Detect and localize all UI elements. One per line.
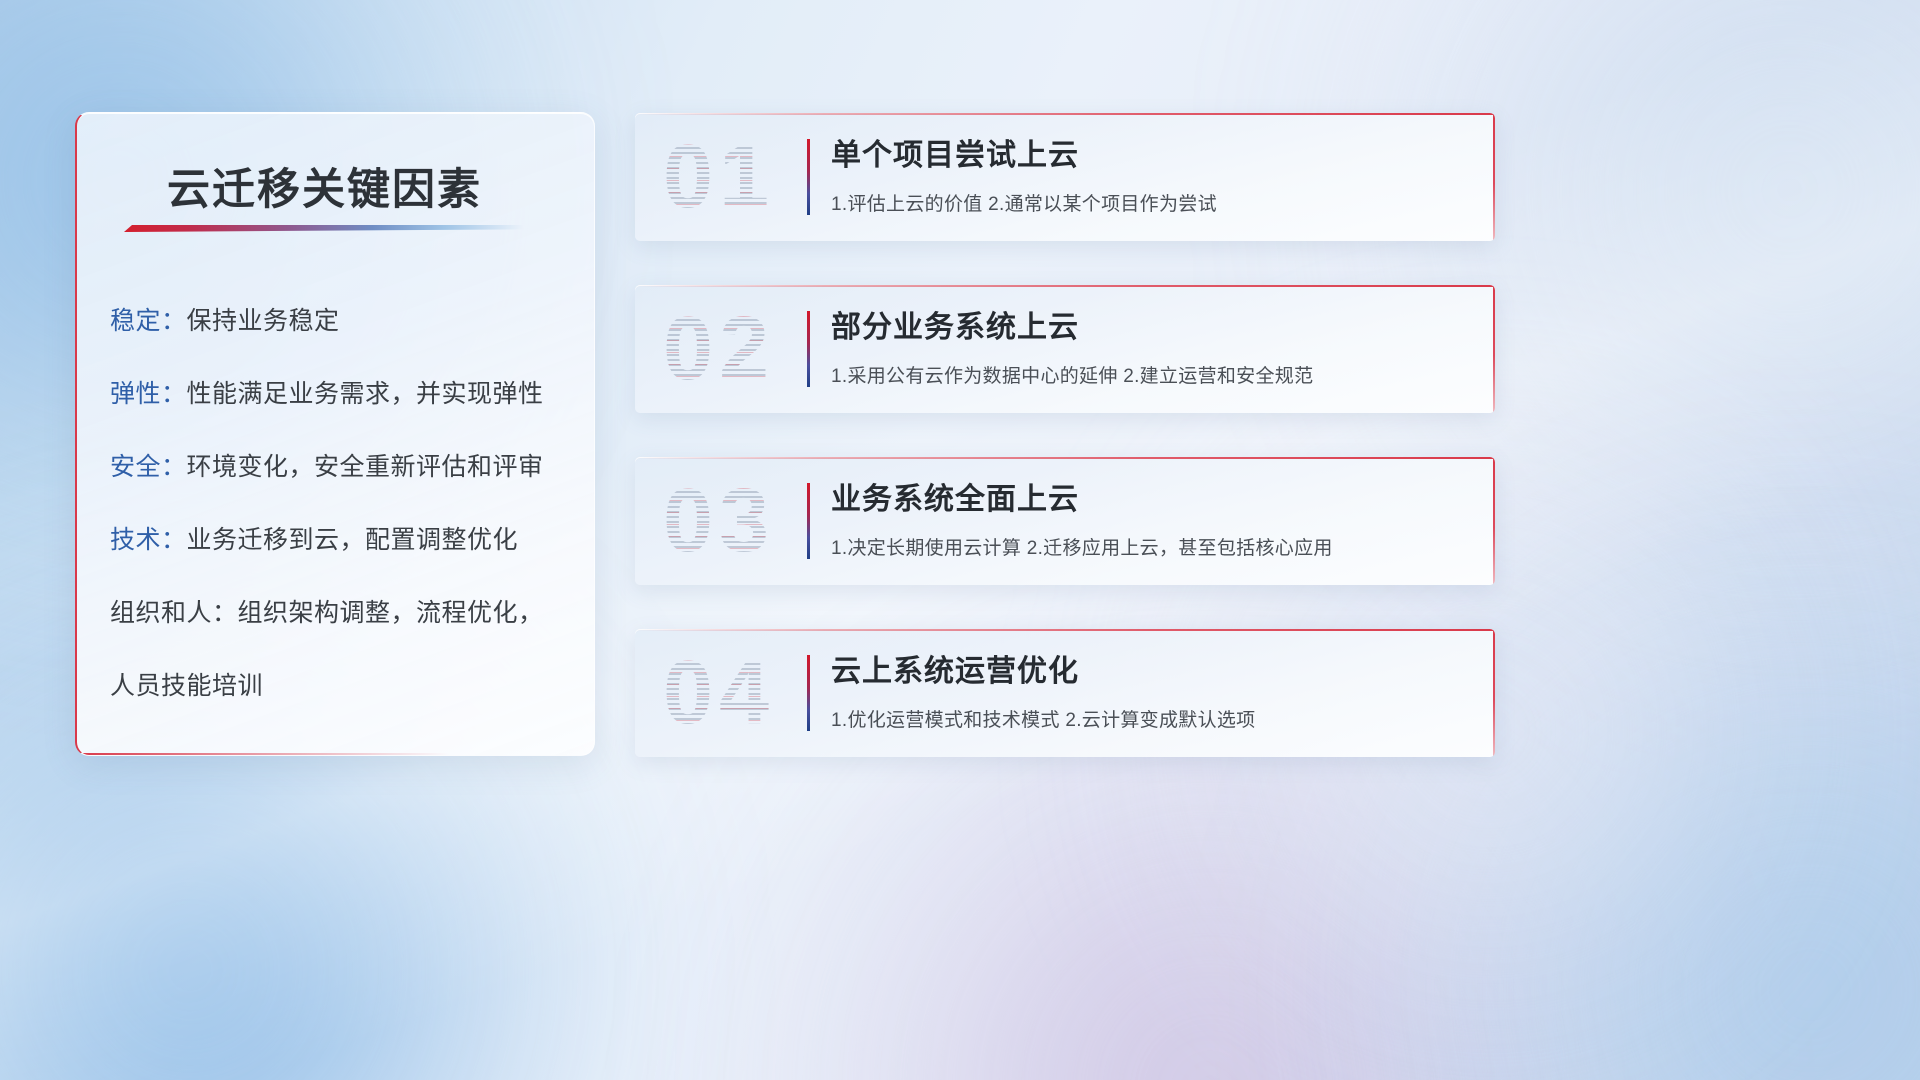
- step-description: 1.采用公有云作为数据中心的延伸 2.建立运营和安全规范: [831, 361, 1471, 388]
- list-item: 组织和人：组织架构调整，流程优化，: [110, 601, 570, 626]
- step-body: 单个项目尝试上云 1.评估上云的价值 2.通常以某个项目作为尝试: [831, 137, 1471, 216]
- step-title: 单个项目尝试上云: [831, 137, 1471, 175]
- factor-key: 弹性：: [110, 380, 187, 408]
- step-title: 部分业务系统上云: [831, 309, 1471, 347]
- step-card-01[interactable]: 01 01 单个项目尝试上云 1.评估上云的价值 2.通常以某个项目作为尝试: [635, 113, 1495, 241]
- step-accent-bar: [807, 655, 810, 731]
- step-body: 部分业务系统上云 1.采用公有云作为数据中心的延伸 2.建立运营和安全规范: [831, 309, 1471, 388]
- factor-text: 人员技能培训: [110, 672, 263, 700]
- factor-key: 技术：: [110, 526, 187, 554]
- list-item: 稳定：保持业务稳定: [110, 309, 570, 334]
- step-accent-bar: [807, 139, 810, 215]
- key-factors-panel: 云迁移关键因素 稳定：保持业务稳定 弹性：性能满足业务需求，并实现弹性 安全：环…: [75, 112, 595, 756]
- factor-text: 环境变化，安全重新评估和评审: [187, 453, 544, 481]
- factor-key: 稳定：: [110, 307, 187, 335]
- migration-steps-list: 01 01 单个项目尝试上云 1.评估上云的价值 2.通常以某个项目作为尝试 0…: [635, 113, 1495, 757]
- step-number-watermark-tint: 01: [663, 132, 775, 222]
- list-item: 技术：业务迁移到云，配置调整优化: [110, 528, 570, 553]
- step-description: 1.决定长期使用云计算 2.迁移应用上云，甚至包括核心应用: [831, 533, 1471, 560]
- step-body: 业务系统全面上云 1.决定长期使用云计算 2.迁移应用上云，甚至包括核心应用: [831, 481, 1471, 560]
- list-item: 人员技能培训: [110, 674, 570, 699]
- list-item: 安全：环境变化，安全重新评估和评审: [110, 455, 570, 480]
- step-card-04[interactable]: 04 04 云上系统运营优化 1.优化运营模式和技术模式 2.云计算变成默认选项: [635, 629, 1495, 757]
- slide-stage: 云迁移关键因素 稳定：保持业务稳定 弹性：性能满足业务需求，并实现弹性 安全：环…: [0, 0, 1920, 1080]
- step-description: 1.评估上云的价值 2.通常以某个项目作为尝试: [831, 189, 1471, 216]
- title-underline-accent: [124, 225, 524, 232]
- step-title: 云上系统运营优化: [831, 653, 1471, 691]
- factor-text: 组织和人：组织架构调整，流程优化，: [110, 599, 544, 627]
- page-title: 云迁移关键因素: [167, 155, 482, 217]
- step-title: 业务系统全面上云: [831, 481, 1471, 519]
- factor-text: 性能满足业务需求，并实现弹性: [187, 380, 544, 408]
- step-description: 1.优化运营模式和技术模式 2.云计算变成默认选项: [831, 705, 1471, 732]
- step-accent-bar: [807, 311, 810, 387]
- step-card-03[interactable]: 03 03 业务系统全面上云 1.决定长期使用云计算 2.迁移应用上云，甚至包括…: [635, 457, 1495, 585]
- step-number-watermark-tint: 02: [663, 304, 775, 394]
- step-card-02[interactable]: 02 02 部分业务系统上云 1.采用公有云作为数据中心的延伸 2.建立运营和安…: [635, 285, 1495, 413]
- step-accent-bar: [807, 483, 810, 559]
- step-number-watermark-tint: 03: [663, 476, 775, 566]
- step-number-watermark-tint: 04: [663, 648, 775, 738]
- key-factors-list: 稳定：保持业务稳定 弹性：性能满足业务需求，并实现弹性 安全：环境变化，安全重新…: [110, 309, 570, 699]
- step-body: 云上系统运营优化 1.优化运营模式和技术模式 2.云计算变成默认选项: [831, 653, 1471, 732]
- factor-key: 安全：: [110, 453, 187, 481]
- list-item: 弹性：性能满足业务需求，并实现弹性: [110, 382, 570, 407]
- factor-text: 保持业务稳定: [187, 307, 340, 335]
- factor-text: 业务迁移到云，配置调整优化: [187, 526, 519, 554]
